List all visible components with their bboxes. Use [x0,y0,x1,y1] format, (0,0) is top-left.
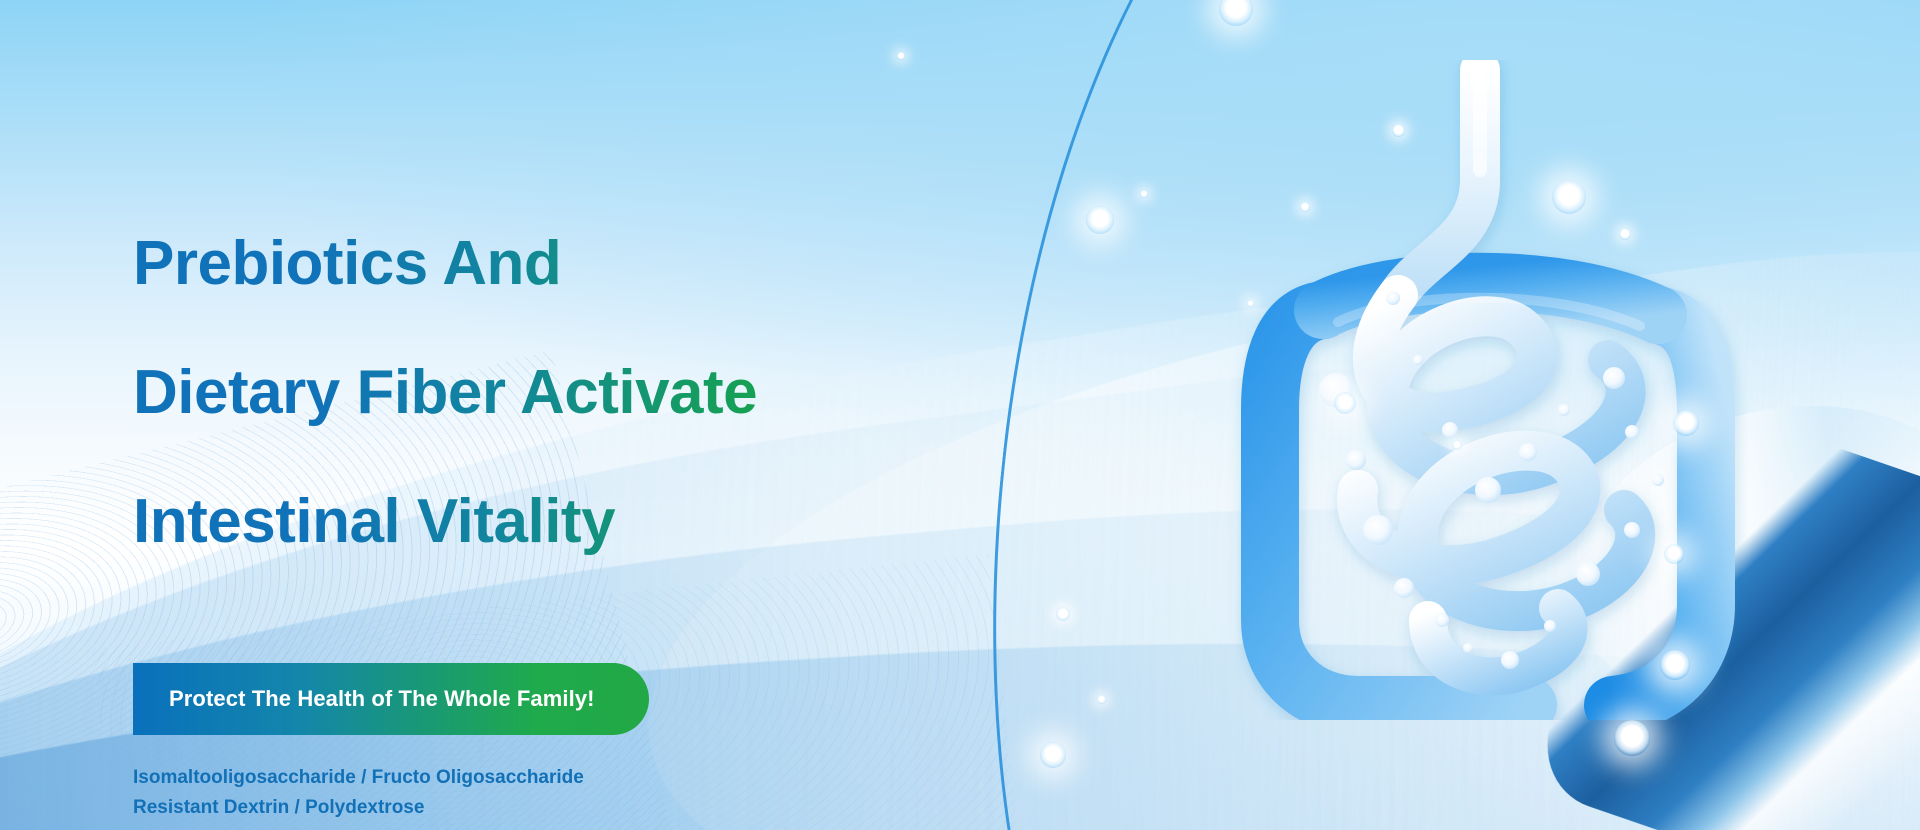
light-orb [1619,228,1631,240]
arc-line-outer [1286,0,1920,830]
light-orb [1140,190,1148,198]
page-title: Prebiotics And Dietary Fiber Activate In… [133,168,963,619]
ingredient-line-2: Resistant Dextrin / Polydextrose [133,793,963,822]
human-intestine-illustration [1228,60,1748,720]
light-orb [1552,180,1586,214]
light-orb [1086,206,1114,234]
light-orb [1056,607,1070,621]
light-orb [1040,742,1066,768]
light-orb [1219,0,1253,26]
light-orb [1300,202,1310,212]
arc-line-right [1381,0,1920,830]
headline-line-2: Dietary Fiber Activate [133,361,963,425]
light-orb [1660,650,1690,680]
light-orb [1247,300,1254,307]
ribbon-accent [1521,400,1920,830]
light-orb [1334,392,1356,414]
light-orb [1392,124,1405,137]
light-orb [1614,720,1650,756]
light-orb [1664,544,1684,564]
light-orb [1452,440,1462,450]
ribbon-gloss [1540,364,1920,757]
headline-line-1: Prebiotics And [133,232,963,296]
headline-line-3: Intestinal Vitality [133,490,963,554]
hero-banner: Prebiotics And Dietary Fiber Activate In… [0,0,1920,830]
banner-content: Prebiotics And Dietary Fiber Activate In… [133,168,963,822]
protect-health-cta-button[interactable]: Protect The Health of The Whole Family! [133,663,649,735]
ingredient-line-1: Isomaltooligosaccharide / Fructo Oligosa… [133,763,963,792]
ingredient-list: Isomaltooligosaccharide / Fructo Oligosa… [133,763,963,822]
arc-line-left [924,0,1777,830]
light-orb [1673,410,1699,436]
light-orb [1097,695,1106,704]
light-orb [897,52,905,60]
